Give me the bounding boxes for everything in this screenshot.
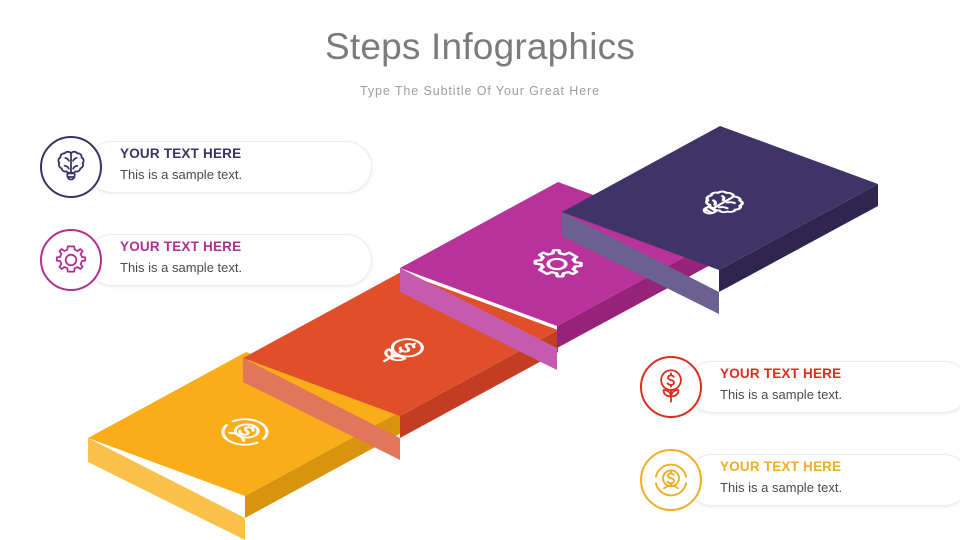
step-2-top-face — [400, 182, 716, 326]
brain-bulb-icon — [693, 188, 749, 220]
step-block-2[interactable] — [400, 182, 716, 370]
step-card-3-text: YOUR TEXT HERE This is a sample text. — [720, 364, 960, 406]
step-3-left-face — [243, 358, 400, 460]
brain-bulb-icon — [53, 148, 89, 186]
step-4-right-face — [245, 410, 403, 518]
step-3-top-face — [243, 272, 558, 416]
step-card-4-text: YOUR TEXT HERE This is a sample text. — [720, 457, 960, 499]
step-1-top-face — [562, 126, 878, 270]
step-1-left-face — [562, 212, 719, 314]
page-subtitle: Type The Subtitle Of Your Great Here — [0, 84, 960, 98]
step-2-left-face — [400, 268, 557, 370]
page-title: Steps Infographics — [0, 26, 960, 68]
gear-icon — [527, 245, 590, 281]
money-plant-icon — [374, 336, 429, 368]
step-4-top-face — [88, 352, 403, 496]
step-4-left-face — [88, 438, 245, 540]
money-plant-icon — [654, 368, 688, 406]
step-block-1[interactable] — [562, 126, 878, 314]
step-card-2-title: YOUR TEXT HERE — [120, 237, 360, 257]
step-card-2-text: YOUR TEXT HERE This is a sample text. — [120, 237, 360, 279]
step-card-4-icon-circle[interactable] — [640, 449, 702, 511]
step-card-1-title: YOUR TEXT HERE — [120, 144, 360, 164]
step-1-right-face — [719, 184, 878, 292]
step-card-1-description: This is a sample text. — [120, 164, 360, 186]
step-3-right-face — [400, 330, 558, 438]
step-card-4-description: This is a sample text. — [720, 477, 960, 499]
step-card-1-text: YOUR TEXT HERE This is a sample text. — [120, 144, 360, 186]
step-block-4[interactable] — [88, 352, 403, 540]
step-card-1-icon-circle[interactable] — [40, 136, 102, 198]
step-card-4-title: YOUR TEXT HERE — [720, 457, 960, 477]
pie-dollar-icon — [653, 462, 689, 498]
pie-dollar-icon — [214, 414, 276, 450]
step-block-3[interactable] — [243, 272, 558, 460]
step-card-2-description: This is a sample text. — [120, 257, 360, 279]
step-card-2-icon-circle[interactable] — [40, 229, 102, 291]
slide-canvas: Steps Infographics Type The Subtitle Of … — [0, 0, 960, 540]
gear-icon — [54, 243, 88, 277]
step-card-3-title: YOUR TEXT HERE — [720, 364, 960, 384]
step-card-3-description: This is a sample text. — [720, 384, 960, 406]
step-card-3-icon-circle[interactable] — [640, 356, 702, 418]
step-2-right-face — [557, 240, 716, 348]
